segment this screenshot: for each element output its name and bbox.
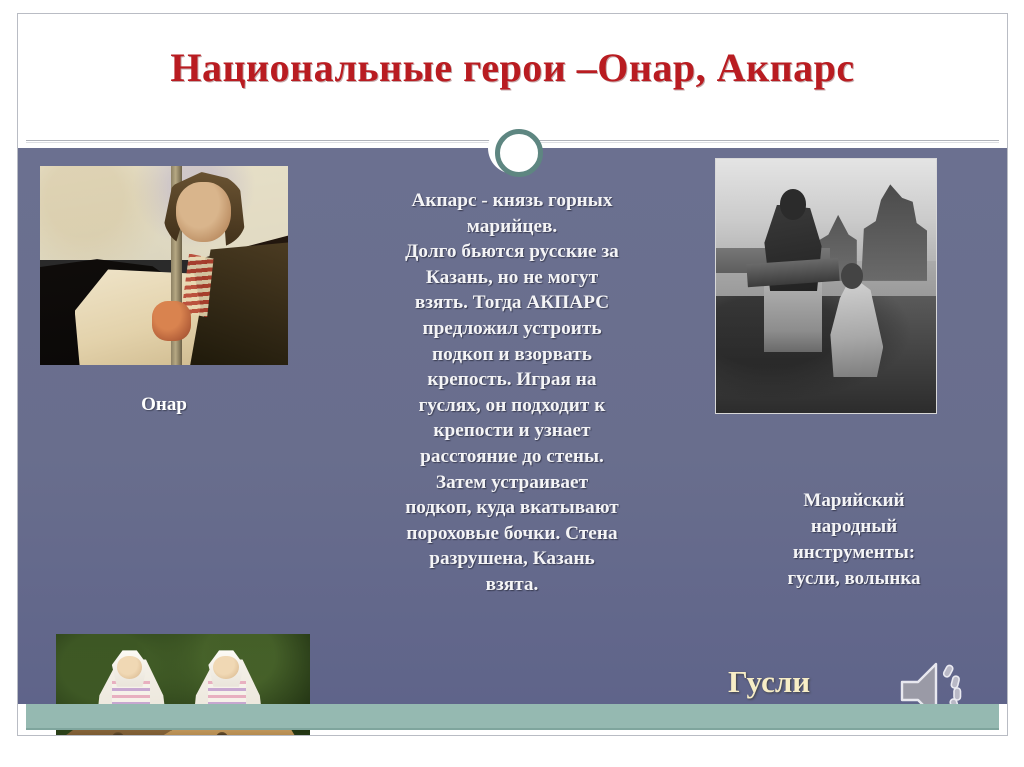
text-line: инструменты: xyxy=(724,540,984,566)
text-line: расстояние до стены. xyxy=(344,444,680,470)
engraving-man-head xyxy=(780,189,806,219)
akpars-playing-gusli-engraving xyxy=(715,158,937,414)
text-line: разрушена, Казань xyxy=(344,546,680,572)
text-line: марийцев. xyxy=(344,214,680,240)
onar-caption: Онар xyxy=(40,394,288,416)
text-line: крепость. Играя на xyxy=(344,367,680,393)
main-text-block: Акпарс - князь горных марийцев. Долго бь… xyxy=(344,188,680,598)
text-line: Долго бьются русские за xyxy=(344,239,680,265)
text-line: предложил устроить xyxy=(344,316,680,342)
text-line: взять. Тогда АКПАРС xyxy=(344,290,680,316)
text-line: Акпарс - князь горных xyxy=(344,188,680,214)
onar-painting xyxy=(40,166,288,365)
engraving-woman-head xyxy=(841,263,863,288)
engraving-ground xyxy=(716,296,936,413)
slide-canvas: Национальные герои –Онар, Акпарс Онар xyxy=(17,13,1008,736)
text-line: Затем устраивает xyxy=(344,470,680,496)
text-line: народный xyxy=(724,514,984,540)
painting-hand xyxy=(152,301,192,341)
text-line: подкоп и взорвать xyxy=(344,342,680,368)
footer-accent-bar xyxy=(26,704,999,730)
instrument-note-block: Марийский народный инструменты: гусли, в… xyxy=(724,488,984,592)
text-line: подкоп, куда вкатывают xyxy=(344,495,680,521)
page-title: Национальные герои –Онар, Акпарс xyxy=(18,44,1007,91)
text-line: гуслях, он подходит к xyxy=(344,393,680,419)
text-line: гусли, волынка xyxy=(724,566,984,592)
text-line: крепости и узнает xyxy=(344,418,680,444)
circle-decoration-icon xyxy=(488,122,540,174)
text-line: Марийский xyxy=(724,488,984,514)
painting-face xyxy=(176,182,231,242)
text-line: взята. xyxy=(344,572,680,598)
slide-body: Онар Акпарс - князь горных марийцев. Дол… xyxy=(18,148,1007,704)
gusli-label: Гусли xyxy=(728,664,810,700)
engraving-pedestal xyxy=(764,281,821,352)
text-line: Казань, но не могут xyxy=(344,265,680,291)
text-line: пороховые бочки. Стена xyxy=(344,521,680,547)
engraving-seated-woman xyxy=(830,276,883,378)
